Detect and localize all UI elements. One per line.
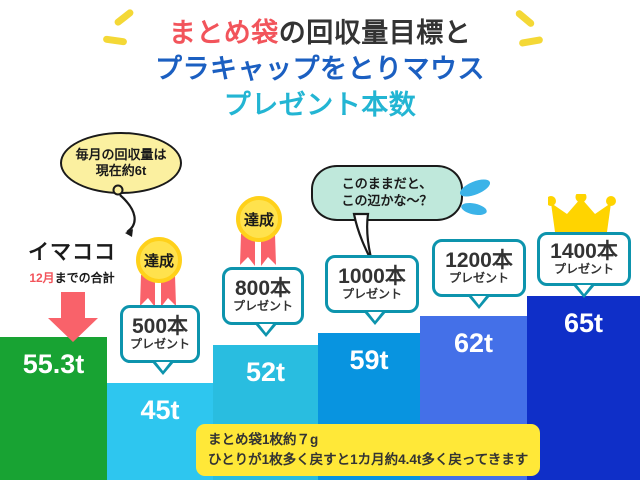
gift-count-1200: 1200本 (445, 250, 513, 272)
gift-callout-500-tail (152, 362, 174, 376)
bar-value-0: 55.3t (23, 349, 85, 480)
medal-circle-500: 達成 (136, 237, 182, 283)
droplet-accent-icon (458, 178, 518, 226)
title-line-1-rest: の回収量目標と (279, 18, 472, 48)
title-line-1: まとめ袋の回収量目標と (0, 20, 640, 47)
imakoko-subtitle-rest: までの合計 (55, 271, 115, 285)
bar-0: 55.3t (0, 337, 107, 480)
page-title: まとめ袋の回収量目標と プラキャップをとりマウス プレゼント本数 (0, 20, 640, 119)
imakoko-subtitle-month: 12月 (29, 271, 54, 285)
callout-forecast-line1: このままだと、 (342, 176, 432, 193)
gift-callout-800-tail (255, 324, 277, 338)
gift-sub-800: プレゼント (233, 300, 293, 313)
medal-badge-800: 達成 (228, 196, 290, 266)
gift-callout-500: 500本 プレゼント (120, 305, 200, 363)
footer-note-line1: まとめ袋1枚約７g (208, 430, 528, 450)
footer-note: まとめ袋1枚約７g ひとりが1枚多く戻すと1カ月約4.4t多く戻ってきます (196, 424, 540, 476)
title-line-3: プレゼント本数 (0, 92, 640, 119)
medal-badge-500: 達成 (128, 237, 190, 307)
footer-note-line2: ひとりが1枚多く戻すと1カ月約4.4t多く戻ってきます (208, 450, 528, 470)
bar-value-1: 45t (140, 395, 179, 480)
gift-sub-1200: プレゼント (449, 272, 509, 285)
infographic-canvas: まとめ袋の回収量目標と プラキャップをとりマウス プレゼント本数 55.3t 4… (0, 0, 640, 480)
gift-sub-1000: プレゼント (342, 288, 402, 301)
title-line-1-highlight: まとめ袋 (169, 18, 279, 48)
callout-monthly-volume-line2: 現在約6t (96, 163, 147, 179)
gift-callout-1400-tail (573, 285, 595, 299)
gift-sub-500: プレゼント (130, 338, 190, 351)
bar-value-5: 65t (564, 308, 603, 480)
gift-sub-1400: プレゼント (554, 263, 614, 276)
gift-callout-1000: 1000本 プレゼント (325, 255, 419, 313)
bar-5: 65t (527, 296, 640, 480)
gift-callout-800: 800本 プレゼント (222, 267, 304, 325)
down-arrow-icon (42, 292, 104, 344)
imakoko-subtitle: 12月までの合計 (8, 269, 136, 286)
gift-count-800: 800本 (235, 278, 291, 300)
gift-callout-1000-tail (364, 312, 386, 326)
gift-count-1000: 1000本 (338, 266, 406, 288)
gift-callout-1200-tail (468, 296, 490, 310)
imakoko-annotation: イマココ 12月までの合計 (8, 236, 136, 286)
gift-callout-1200: 1200本 プレゼント (432, 239, 526, 297)
callout-forecast-line2: この辺かな〜？ (341, 193, 432, 210)
callout-monthly-volume-line1: 毎月の回収量は (75, 147, 166, 163)
title-line-2: プラキャップをとりマウス (0, 56, 640, 83)
gift-count-500: 500本 (132, 316, 188, 338)
gift-count-1400: 1400本 (550, 241, 618, 263)
gift-callout-1400: 1400本 プレゼント (537, 232, 631, 286)
imakoko-label: イマココ (8, 236, 136, 266)
medal-circle-800: 達成 (236, 196, 282, 242)
